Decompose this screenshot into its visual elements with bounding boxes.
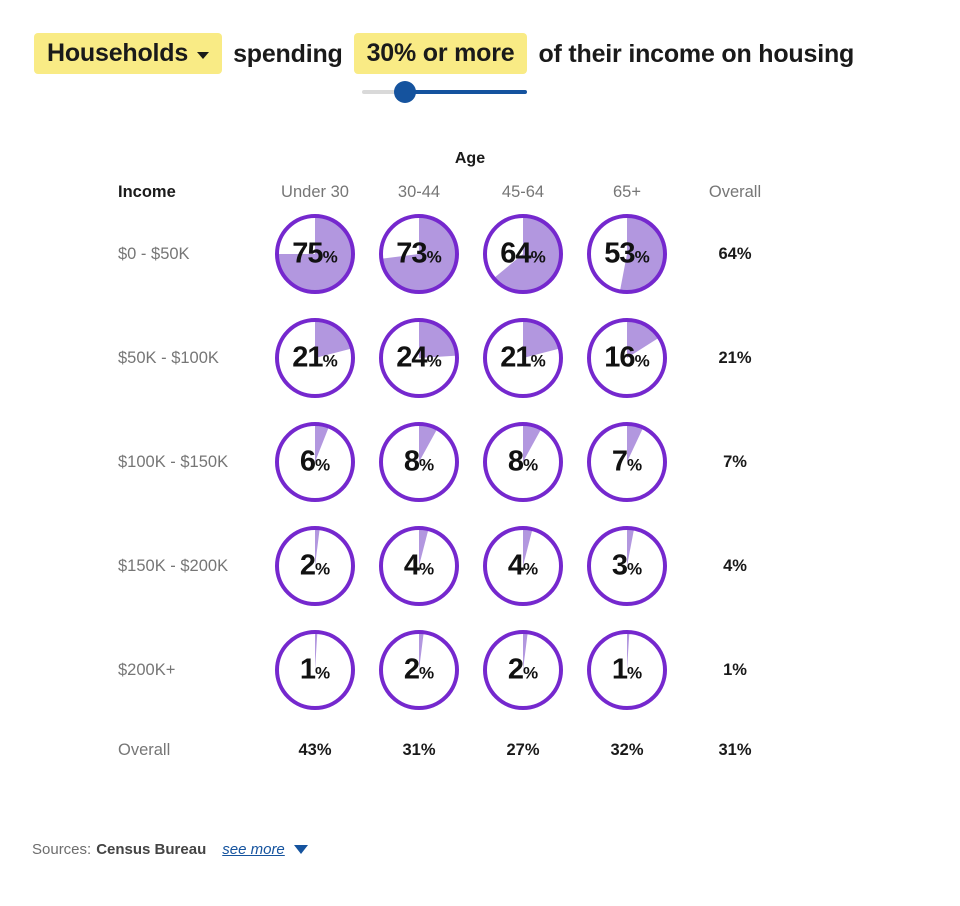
pie-cell[interactable]: 1% <box>263 618 367 722</box>
table-row: $100K - $150K6%8%8%7%7% <box>118 410 791 514</box>
pie-chart: 64% <box>481 212 565 296</box>
pie-cell[interactable]: 21% <box>263 306 367 410</box>
sources-prefix: Sources: <box>32 841 91 858</box>
footer-value-65-plus: 32% <box>575 722 679 778</box>
matrix-footer: Overall 43% 31% 27% 32% 31% <box>118 722 791 778</box>
pie-chart: 73% <box>377 212 461 296</box>
matrix-chart: Age Income Under 30 30-44 45-64 65+ Over… <box>0 150 960 778</box>
pie-cell[interactable]: 4% <box>367 514 471 618</box>
threshold-label: 30% or more <box>367 33 515 74</box>
matrix-body: $0 - $50K75%73%64%53%64%$50K - $100K21%2… <box>118 202 791 722</box>
table-row: $0 - $50K75%73%64%53%64% <box>118 202 791 306</box>
pie-cell[interactable]: 16% <box>575 306 679 410</box>
row-overall-value: 7% <box>679 410 791 514</box>
pie-cell[interactable]: 64% <box>471 202 575 306</box>
pie-chart: 8% <box>377 420 461 504</box>
pie-cell[interactable]: 1% <box>575 618 679 722</box>
threshold-slider[interactable] <box>354 81 528 103</box>
pie-chart: 2% <box>273 524 357 608</box>
row-label: $50K - $100K <box>118 306 263 410</box>
pie-chart: 24% <box>377 316 461 400</box>
footer-value-overall: 31% <box>679 722 791 778</box>
pie-chart: 16% <box>585 316 669 400</box>
pie-chart: 1% <box>585 628 669 712</box>
row-label: $150K - $200K <box>118 514 263 618</box>
pie-cell[interactable]: 8% <box>471 410 575 514</box>
pie-chart: 2% <box>481 628 565 712</box>
threshold-pill[interactable]: 30% or more <box>354 33 528 74</box>
pie-chart: 4% <box>481 524 565 608</box>
see-more-link[interactable]: see more <box>222 841 285 858</box>
pie-chart: 4% <box>377 524 461 608</box>
pie-cell[interactable]: 24% <box>367 306 471 410</box>
slider-thumb[interactable] <box>394 81 416 103</box>
pie-cell[interactable]: 6% <box>263 410 367 514</box>
column-header-overall: Overall <box>679 150 791 202</box>
pie-cell[interactable]: 3% <box>575 514 679 618</box>
headline-verb: spending <box>233 28 343 80</box>
footer-row-label: Overall <box>118 722 263 778</box>
pie-chart: 21% <box>273 316 357 400</box>
table-row: $50K - $100K21%24%21%16%21% <box>118 306 791 410</box>
table-row-overall: Overall 43% 31% 27% 32% 31% <box>118 722 791 778</box>
footer-value-under-30: 43% <box>263 722 367 778</box>
headline-control-bar: Households spending 30% or more of their… <box>34 28 934 103</box>
row-overall-value: 4% <box>679 514 791 618</box>
pie-cell[interactable]: 8% <box>367 410 471 514</box>
row-label: $100K - $150K <box>118 410 263 514</box>
pie-chart: 7% <box>585 420 669 504</box>
pie-chart: 6% <box>273 420 357 504</box>
subject-dropdown-label: Households <box>47 33 188 74</box>
pie-cell[interactable]: 4% <box>471 514 575 618</box>
footer-value-45-64: 27% <box>471 722 575 778</box>
row-label: $0 - $50K <box>118 202 263 306</box>
pie-chart: 8% <box>481 420 565 504</box>
matrix-table: Income Under 30 30-44 45-64 65+ Overall … <box>118 150 791 778</box>
pie-chart: 3% <box>585 524 669 608</box>
row-label: $200K+ <box>118 618 263 722</box>
headline-suffix: of their income on housing <box>538 28 854 80</box>
sources-footer: Sources: Census Bureau see more <box>32 841 308 858</box>
chevron-down-icon[interactable] <box>294 845 308 854</box>
income-axis-title: Income <box>118 150 263 202</box>
pie-cell[interactable]: 2% <box>471 618 575 722</box>
pie-cell[interactable]: 2% <box>367 618 471 722</box>
pie-cell[interactable]: 73% <box>367 202 471 306</box>
pie-cell[interactable]: 2% <box>263 514 367 618</box>
row-overall-value: 21% <box>679 306 791 410</box>
pie-cell[interactable]: 53% <box>575 202 679 306</box>
row-overall-value: 1% <box>679 618 791 722</box>
footer-value-30-44: 31% <box>367 722 471 778</box>
chevron-down-icon <box>197 52 209 59</box>
pie-chart: 53% <box>585 212 669 296</box>
pie-chart: 75% <box>273 212 357 296</box>
threshold-control: 30% or more <box>354 28 528 103</box>
pie-chart: 21% <box>481 316 565 400</box>
sources-name: Census Bureau <box>96 841 206 858</box>
table-row: $150K - $200K2%4%4%3%4% <box>118 514 791 618</box>
pie-cell[interactable]: 75% <box>263 202 367 306</box>
pie-cell[interactable]: 7% <box>575 410 679 514</box>
slider-track-active <box>404 90 528 94</box>
pie-chart: 2% <box>377 628 461 712</box>
subject-dropdown[interactable]: Households <box>34 33 222 74</box>
pie-chart: 1% <box>273 628 357 712</box>
row-overall-value: 64% <box>679 202 791 306</box>
pie-cell[interactable]: 21% <box>471 306 575 410</box>
age-axis-title: Age <box>265 150 675 168</box>
table-row: $200K+1%2%2%1%1% <box>118 618 791 722</box>
